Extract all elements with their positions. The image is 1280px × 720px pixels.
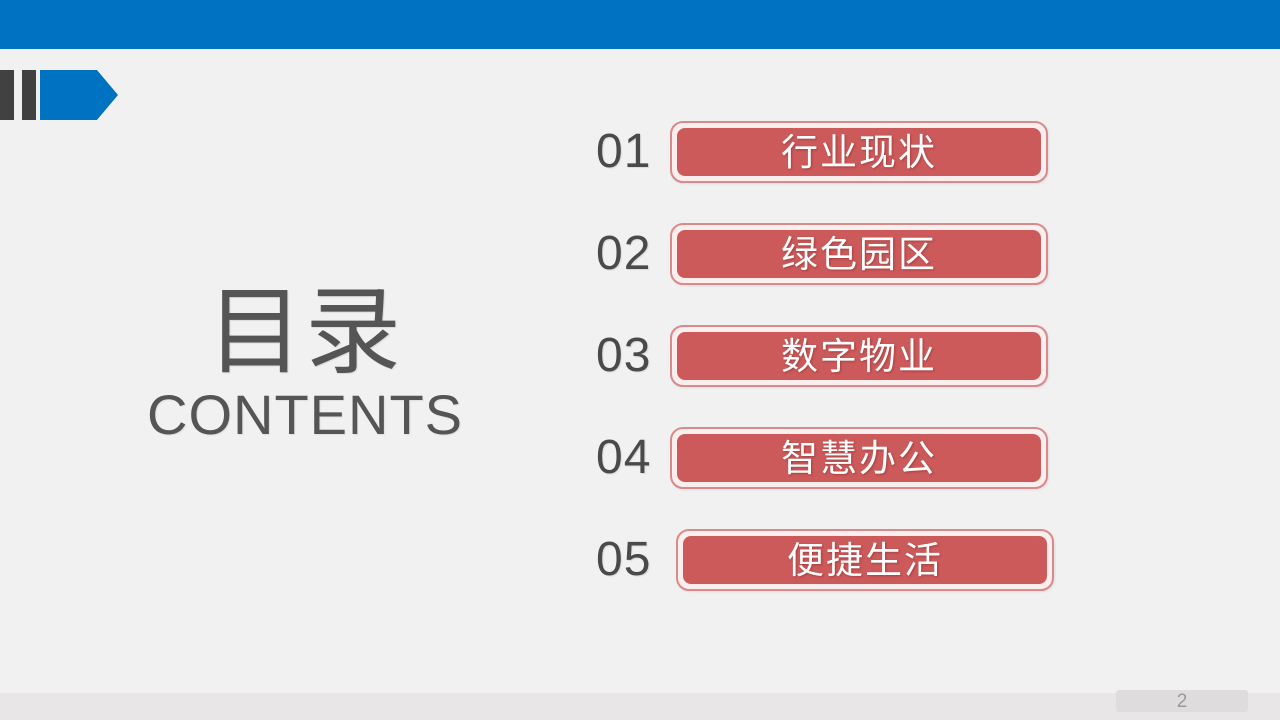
list-item-label: 智慧办公 <box>781 440 937 477</box>
list-item-pill-fill: 绿色园区 <box>677 230 1041 278</box>
contents-list: 01 行业现状 02 绿色园区 03 数字物业 <box>596 112 1196 622</box>
list-item-pill[interactable]: 绿色园区 <box>670 223 1048 285</box>
arrow-shape-icon <box>40 70 118 120</box>
list-item[interactable]: 05 便捷生活 <box>596 520 1196 600</box>
list-item-number: 04 <box>596 434 670 482</box>
list-item-number: 03 <box>596 332 670 380</box>
list-item-label: 绿色园区 <box>781 236 937 273</box>
page-title: 目录 CONTENTS <box>60 285 550 443</box>
list-item-label: 便捷生活 <box>787 542 943 579</box>
list-item-number: 01 <box>596 128 670 176</box>
deco-bar-second <box>22 70 36 120</box>
title-chinese: 目录 <box>60 285 550 381</box>
list-item-pill[interactable]: 便捷生活 <box>676 529 1054 591</box>
list-item[interactable]: 03 数字物业 <box>596 316 1196 396</box>
list-item-label: 行业现状 <box>781 134 937 171</box>
page-number: 2 <box>1177 692 1188 711</box>
list-item-pill-fill: 数字物业 <box>677 332 1041 380</box>
list-item-pill[interactable]: 智慧办公 <box>670 427 1048 489</box>
list-item[interactable]: 01 行业现状 <box>596 112 1196 192</box>
list-item[interactable]: 02 绿色园区 <box>596 214 1196 294</box>
list-item-pill[interactable]: 行业现状 <box>670 121 1048 183</box>
bottom-strip <box>0 693 1280 720</box>
corner-decoration <box>0 70 130 120</box>
deco-bar-first <box>0 70 14 120</box>
list-item-label: 数字物业 <box>781 338 937 375</box>
list-item[interactable]: 04 智慧办公 <box>596 418 1196 498</box>
top-blue-band <box>0 0 1280 49</box>
list-item-number: 05 <box>596 536 670 584</box>
list-item-pill[interactable]: 数字物业 <box>670 325 1048 387</box>
title-english: CONTENTS <box>60 387 550 443</box>
page-number-badge: 2 <box>1116 690 1248 712</box>
list-item-pill-fill: 智慧办公 <box>677 434 1041 482</box>
list-item-number: 02 <box>596 230 670 278</box>
list-item-pill-fill: 便捷生活 <box>683 536 1047 584</box>
slide-canvas: 目录 CONTENTS 01 行业现状 02 绿色园区 03 数字 <box>0 0 1280 720</box>
list-item-pill-fill: 行业现状 <box>677 128 1041 176</box>
